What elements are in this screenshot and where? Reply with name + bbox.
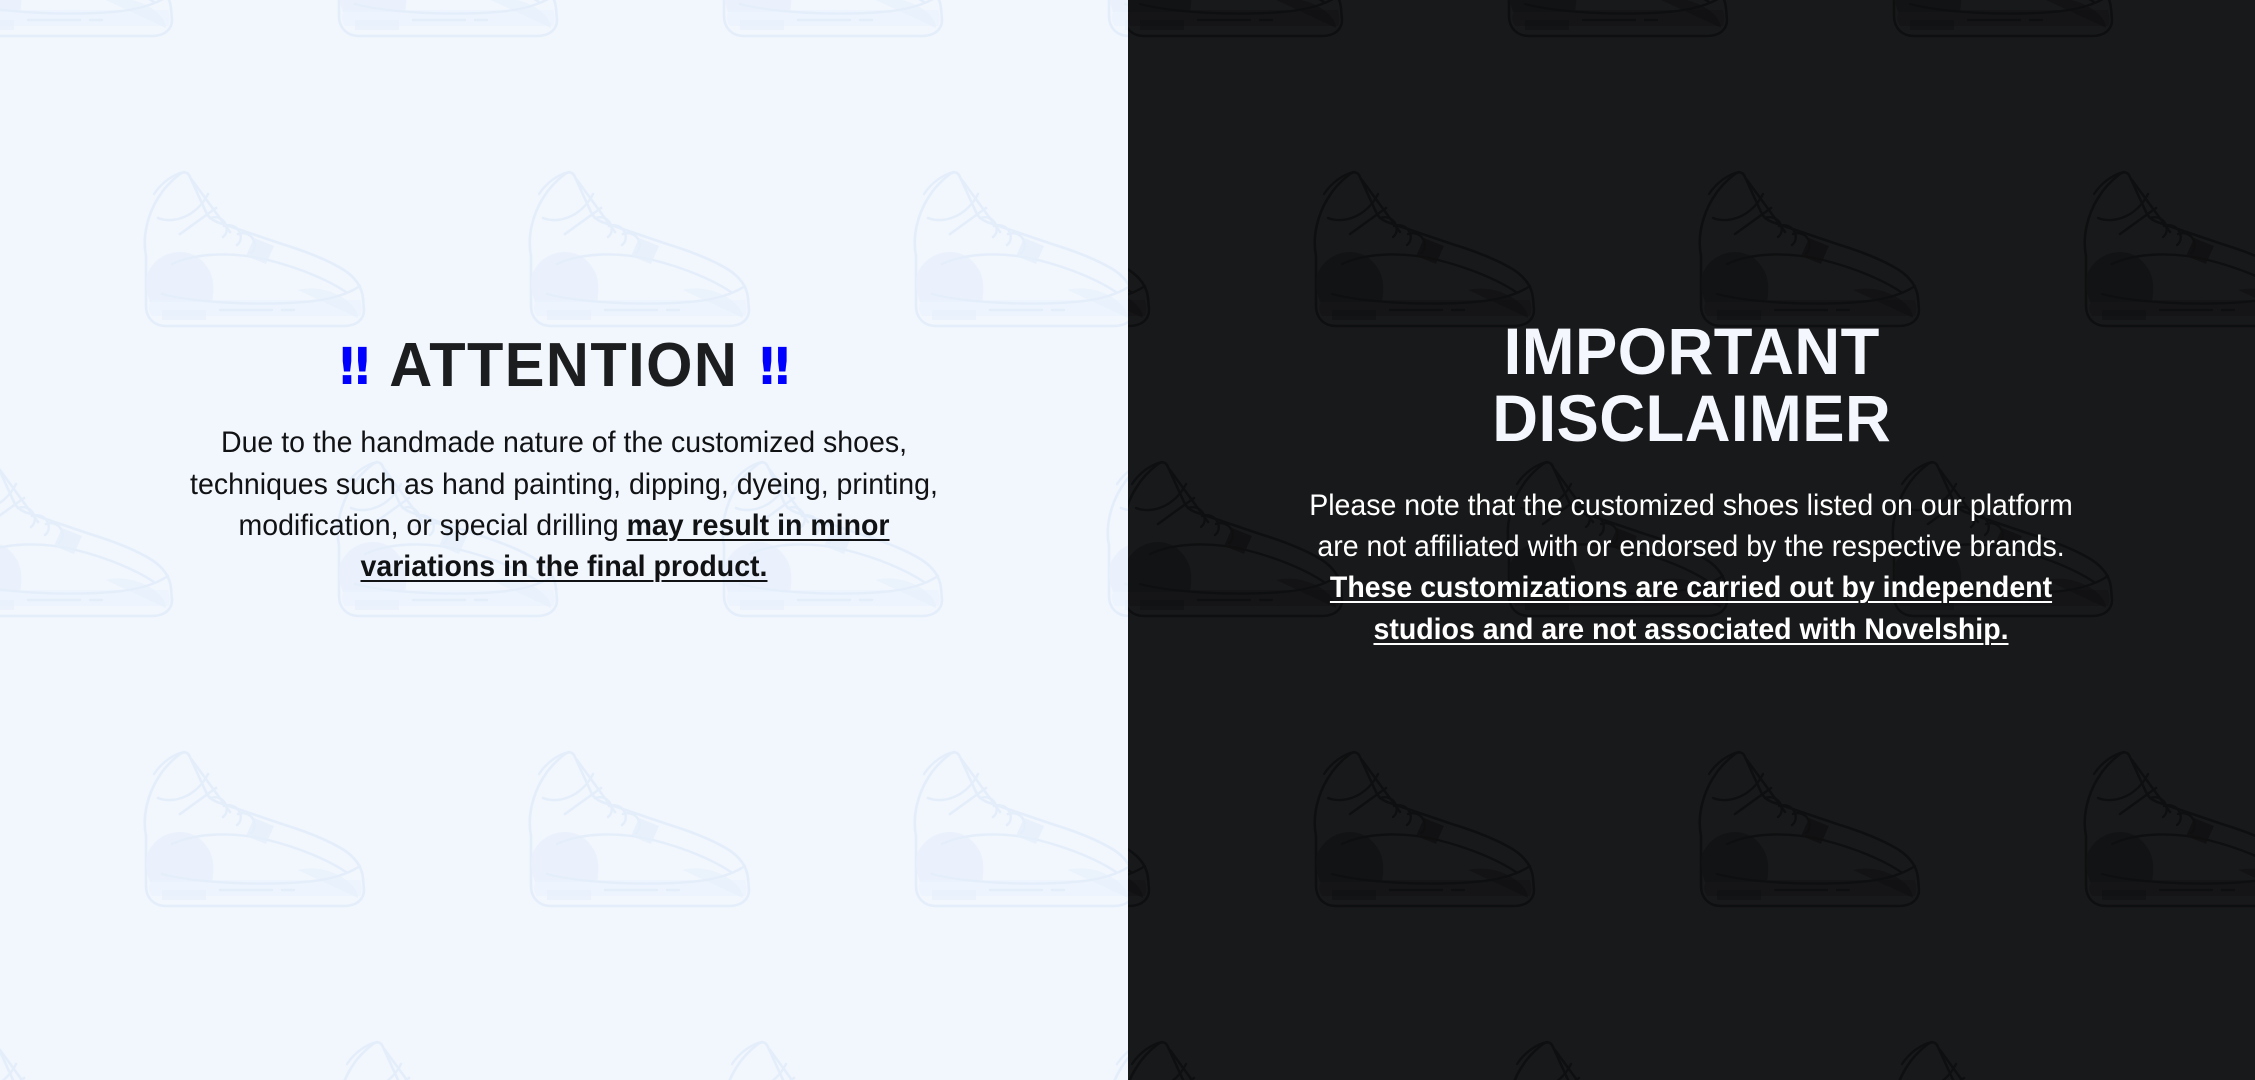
disclaimer-body-intro: Please note that the customized shoes li…: [1309, 489, 2073, 563]
attention-content: ‼ATTENTION‼ Due to the handmade nature o…: [0, 336, 1128, 588]
disclaimer-body: Please note that the customized shoes li…: [1302, 485, 2081, 651]
double-exclamation-right-icon: ‼: [759, 342, 788, 391]
disclaimer-heading-line2: DISCLAIMER: [1492, 381, 1891, 455]
attention-body: Due to the handmade nature of the custom…: [184, 422, 944, 588]
disclaimer-heading-line1: IMPORTANT: [1503, 314, 1879, 388]
attention-panel: ‼ATTENTION‼ Due to the handmade nature o…: [0, 0, 1128, 1080]
disclaimer-body-emphasis: These customizations are carried out by …: [1330, 571, 2052, 645]
attention-heading-label: ATTENTION: [389, 331, 738, 400]
disclaimer-heading: IMPORTANTDISCLAIMER: [1150, 318, 2232, 453]
double-exclamation-left-icon: ‼: [339, 342, 368, 391]
disclaimer-content: IMPORTANTDISCLAIMER Please note that the…: [1128, 318, 2255, 650]
attention-heading: ‼ATTENTION‼: [23, 336, 1105, 396]
disclaimer-banner: ‼ATTENTION‼ Due to the handmade nature o…: [0, 0, 2255, 1080]
disclaimer-panel: IMPORTANTDISCLAIMER Please note that the…: [1128, 0, 2255, 1080]
